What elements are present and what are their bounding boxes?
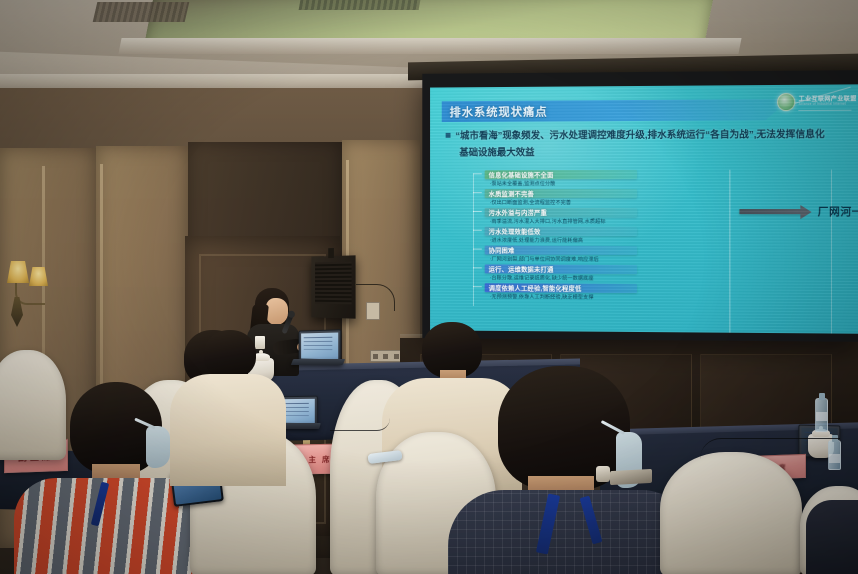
- item-heading-bar: 调度依赖人工经验,智能化程度低: [485, 283, 637, 292]
- item-subtext: ·厂网河割裂,部门与单位间协同调度难,响应滞后: [490, 256, 722, 264]
- item-heading-bar: 污水处理效能低效: [485, 227, 637, 236]
- speaker-grill: [315, 262, 352, 305]
- main-bullet-line1: “城市看海”现象频发、污水处理调控难度升级,排水系统运行“各自为战”,无法发挥信…: [455, 129, 824, 142]
- item-subtext: ·雨季溢流,污水混入大排口,污水直排管网,水质超标: [490, 218, 722, 225]
- item-heading: 信息化基础设施不全面: [489, 170, 554, 179]
- item-heading-bar: 水质监测不完善: [485, 189, 637, 198]
- item-subtext: ·进水浓度低,处理能力浪费,运行能耗偏高: [490, 237, 722, 244]
- speaker-mount: [328, 248, 334, 258]
- item-heading: 调度依赖人工经验,智能化程度低: [489, 283, 582, 292]
- slide-vertical-divider-2: [831, 170, 832, 334]
- list-item: 调度依赖人工经验,智能化程度低 ·无预测预警,依靠人工判断经验,缺乏模型支撑: [473, 283, 721, 301]
- slide-callout: 厂网河一体化管控: [739, 204, 858, 219]
- leaf-emblem-icon: [777, 93, 795, 111]
- floor-cable: [700, 438, 840, 459]
- right-arrow-icon: [739, 204, 811, 218]
- attendee-head: [204, 330, 256, 378]
- item-subtext: ·台账分散,运维记录纸质化,缺少统一数据底座: [490, 274, 722, 282]
- conference-room-photo: 排水系统现状痛点 工业互联网产业联盟 Alliance of Industria…: [0, 0, 858, 574]
- slide-vertical-divider: [729, 170, 730, 334]
- chair-cover: [0, 350, 66, 460]
- table-small-cup: [596, 466, 610, 482]
- slide-title: 排水系统现状痛点: [450, 104, 548, 120]
- presenter-name-badge: [255, 336, 265, 349]
- list-item: 协同困难 ·厂网河割裂,部门与单位间协同调度难,响应滞后: [473, 246, 721, 264]
- item-heading: 协同困难: [489, 245, 515, 254]
- ceiling-vent: [93, 2, 190, 22]
- item-subtext: ·仅出口断面监测,全流程监控不完善: [490, 199, 722, 206]
- presentation-slide: 排水系统现状痛点 工业互联网产业联盟 Alliance of Industria…: [430, 84, 858, 333]
- slide-title-block: 排水系统现状痛点: [442, 99, 801, 123]
- item-heading-bar: 信息化基础设施不全面: [485, 170, 637, 179]
- ceiling-vent-secondary: [299, 0, 422, 10]
- item-heading: 水质监测不完善: [489, 189, 534, 198]
- org-logo-text: 工业互联网产业联盟 Alliance of Industrial Interne…: [799, 97, 857, 107]
- placard-label: 主 席: [308, 453, 331, 464]
- water-bottle: [815, 398, 828, 432]
- chair-cover: [660, 452, 802, 574]
- laptop-screen: [299, 329, 342, 362]
- item-subtext: ·泵站未全覆盖,监测点位分散: [490, 180, 722, 187]
- ceiling-speaker: [311, 255, 355, 318]
- org-name-en: Alliance of Industrial Internet: [799, 103, 857, 107]
- item-heading-bar: 运行、运维数据未打通: [485, 264, 637, 273]
- floor-cable: [330, 418, 390, 431]
- item-heading: 污水外溢与内涝严重: [489, 208, 547, 217]
- list-item: 运行、运维数据未打通 ·台账分散,运维记录纸质化,缺少统一数据底座: [473, 264, 721, 282]
- laptop-base: [291, 359, 345, 365]
- list-item: 污水外溢与内涝严重 ·雨季溢流,污水混入大排口,污水直排管网,水质超标: [473, 208, 721, 225]
- attendee-torso: [170, 374, 286, 486]
- table-papers: [610, 469, 652, 485]
- list-item: 信息化基础设施不全面 ·泵站未全覆盖,监测点位分散: [473, 170, 721, 187]
- item-heading-bar: 协同困难: [485, 246, 637, 255]
- list-item: 污水处理效能低效 ·进水浓度低,处理能力浪费,运行能耗偏高: [473, 227, 721, 244]
- ceiling-cove-lip: [118, 38, 741, 54]
- item-heading: 污水处理效能低效: [489, 227, 541, 236]
- wall-power-outlet[interactable]: [366, 302, 380, 320]
- slide-item-list: 信息化基础设施不全面 ·泵站未全覆盖,监测点位分散 水质监测不完善 ·仅出口断面…: [473, 170, 721, 304]
- org-logo: 工业互联网产业联盟 Alliance of Industrial Interne…: [777, 92, 856, 111]
- callout-text: 厂网河一体化管控: [818, 204, 858, 219]
- slide-main-bullet: “城市看海”现象频发、污水处理调控难度升级,排水系统运行“各自为战”,无法发挥信…: [446, 127, 849, 162]
- lamp-shade-icon: [7, 261, 29, 283]
- lamp-shade-icon: [29, 267, 48, 286]
- item-subtext: ·无预测预警,依靠人工判断经验,缺乏模型支撑: [490, 293, 722, 301]
- list-item: 水质监测不完善 ·仅出口断面监测,全流程监控不完善: [473, 189, 721, 206]
- item-heading: 运行、运维数据未打通: [489, 264, 554, 273]
- item-heading-bar: 污水外溢与内涝严重: [485, 208, 637, 217]
- bullet-square-icon: [446, 133, 451, 138]
- projection-screen: 排水系统现状痛点 工业互联网产业联盟 Alliance of Industria…: [422, 70, 858, 342]
- attendee-torso: [448, 490, 692, 574]
- main-bullet-line2: 基础设施最大效益: [459, 144, 848, 162]
- presenter-laptop[interactable]: [296, 330, 342, 362]
- wall-sconce-lamp: [5, 253, 61, 333]
- face-mask: [146, 426, 170, 468]
- attendee-torso: [806, 500, 858, 574]
